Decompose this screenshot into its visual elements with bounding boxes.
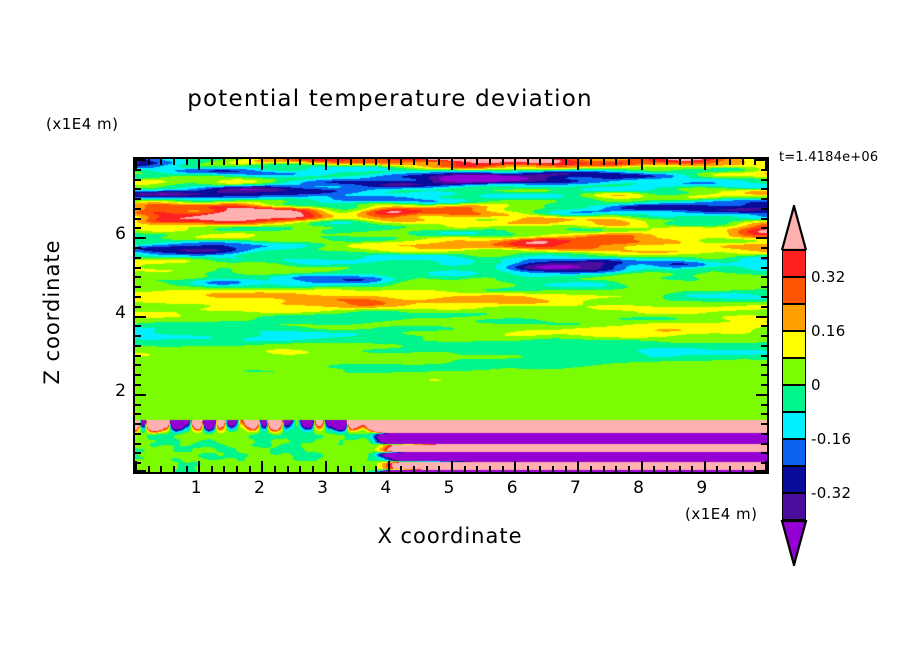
tick-mark bbox=[363, 159, 365, 165]
tick-mark bbox=[375, 466, 377, 472]
tick-mark bbox=[653, 159, 655, 165]
page-title: potential temperature deviation bbox=[0, 86, 780, 112]
tick-mark bbox=[198, 159, 200, 170]
colorbar-band bbox=[782, 493, 806, 520]
tick-mark bbox=[761, 247, 767, 249]
tick-mark bbox=[135, 227, 141, 229]
tick-mark bbox=[756, 394, 767, 396]
tick-mark bbox=[539, 159, 541, 165]
tick-mark bbox=[186, 466, 188, 472]
tick-mark bbox=[160, 159, 162, 165]
tick-mark bbox=[514, 461, 516, 472]
tick-mark bbox=[135, 452, 141, 454]
tick-mark bbox=[514, 159, 516, 170]
tick-mark bbox=[761, 433, 767, 435]
tick-mark bbox=[135, 296, 141, 298]
colorbar-band bbox=[782, 412, 806, 439]
tick-mark bbox=[565, 159, 567, 165]
tick-mark bbox=[413, 466, 415, 472]
timestamp-annotation: t=1.4184e+06 bbox=[779, 150, 878, 165]
tick-mark bbox=[223, 159, 225, 165]
tick-mark bbox=[325, 159, 327, 170]
tick-mark bbox=[691, 159, 693, 165]
tick-mark bbox=[527, 159, 529, 165]
tick-mark bbox=[761, 374, 767, 376]
tick-mark bbox=[198, 461, 200, 472]
tick-mark bbox=[464, 466, 466, 472]
tick-mark bbox=[135, 159, 146, 161]
x-axis-title: X coordinate bbox=[250, 524, 650, 548]
tick-mark bbox=[135, 316, 146, 318]
tick-mark bbox=[135, 364, 141, 366]
tick-mark bbox=[299, 466, 301, 472]
tick-mark bbox=[400, 466, 402, 472]
tick-mark bbox=[350, 466, 352, 472]
x-tick-label: 8 bbox=[619, 478, 659, 498]
tick-mark bbox=[552, 466, 554, 472]
tick-mark bbox=[729, 466, 731, 472]
tick-mark bbox=[653, 466, 655, 472]
tick-mark bbox=[716, 159, 718, 165]
tick-mark bbox=[539, 466, 541, 472]
tick-mark bbox=[691, 466, 693, 472]
tick-mark bbox=[135, 423, 141, 425]
tick-mark bbox=[249, 466, 251, 472]
tick-mark bbox=[388, 461, 390, 472]
tick-mark bbox=[135, 257, 141, 259]
tick-mark bbox=[160, 466, 162, 472]
tick-mark bbox=[756, 159, 767, 161]
x-tick-label: 7 bbox=[555, 478, 595, 498]
tick-mark bbox=[135, 443, 141, 445]
tick-mark bbox=[716, 466, 718, 472]
tick-mark bbox=[527, 466, 529, 472]
tick-mark bbox=[761, 404, 767, 406]
tick-mark bbox=[186, 159, 188, 165]
tick-mark bbox=[489, 159, 491, 165]
y-axis-title: Z coordinate bbox=[40, 202, 64, 422]
tick-mark bbox=[761, 227, 767, 229]
tick-mark bbox=[761, 257, 767, 259]
tick-mark bbox=[761, 169, 767, 171]
tick-mark bbox=[756, 237, 767, 239]
tick-mark bbox=[729, 159, 731, 165]
tick-mark bbox=[400, 159, 402, 165]
x-tick-label: 9 bbox=[682, 478, 722, 498]
tick-mark bbox=[761, 462, 767, 464]
tick-mark bbox=[761, 198, 767, 200]
x-tick-label: 6 bbox=[492, 478, 532, 498]
tick-mark bbox=[135, 325, 141, 327]
tick-mark bbox=[704, 461, 706, 472]
tick-mark bbox=[135, 169, 141, 171]
tick-mark bbox=[761, 345, 767, 347]
tick-mark bbox=[742, 159, 744, 165]
tick-mark bbox=[679, 466, 681, 472]
tick-mark bbox=[761, 325, 767, 327]
tick-mark bbox=[489, 466, 491, 472]
colorbar-band bbox=[782, 304, 806, 331]
tick-mark bbox=[756, 470, 767, 472]
tick-mark bbox=[761, 413, 767, 415]
tick-mark bbox=[603, 159, 605, 165]
tick-mark bbox=[135, 433, 141, 435]
tick-mark bbox=[135, 462, 141, 464]
colorbar-tick-label: -0.32 bbox=[811, 484, 851, 502]
tick-mark bbox=[312, 159, 314, 165]
colorbar-band bbox=[782, 385, 806, 412]
y-tick-label: 6 bbox=[96, 224, 126, 244]
tick-mark bbox=[628, 159, 630, 165]
x-tick-label: 4 bbox=[366, 478, 406, 498]
tick-mark bbox=[135, 470, 146, 472]
tick-mark bbox=[666, 159, 668, 165]
x-tick-label: 1 bbox=[176, 478, 216, 498]
tick-mark bbox=[135, 384, 141, 386]
colorbar-cap-max bbox=[779, 205, 809, 250]
figure-canvas: potential temperature deviation (x1E4 m)… bbox=[0, 0, 904, 654]
tick-mark bbox=[135, 218, 141, 220]
tick-mark bbox=[325, 461, 327, 472]
tick-mark bbox=[135, 237, 146, 239]
tick-mark bbox=[438, 466, 440, 472]
tick-mark bbox=[274, 159, 276, 165]
tick-mark bbox=[223, 466, 225, 472]
colorbar-cap-min bbox=[779, 520, 809, 566]
tick-mark bbox=[375, 159, 377, 165]
tick-mark bbox=[761, 276, 767, 278]
tick-mark bbox=[287, 466, 289, 472]
y-tick-label: 4 bbox=[96, 303, 126, 323]
tick-mark bbox=[337, 466, 339, 472]
tick-mark bbox=[148, 159, 150, 165]
tick-mark bbox=[287, 159, 289, 165]
tick-mark bbox=[236, 159, 238, 165]
tick-mark bbox=[135, 404, 141, 406]
tick-mark bbox=[761, 208, 767, 210]
tick-mark bbox=[761, 355, 767, 357]
tick-mark bbox=[261, 159, 263, 170]
tick-mark bbox=[135, 188, 141, 190]
tick-mark bbox=[135, 179, 141, 181]
tick-mark bbox=[756, 316, 767, 318]
tick-mark bbox=[476, 466, 478, 472]
tick-mark bbox=[135, 345, 141, 347]
tick-mark bbox=[135, 394, 146, 396]
tick-mark bbox=[628, 466, 630, 472]
tick-mark bbox=[761, 179, 767, 181]
tick-mark bbox=[502, 466, 504, 472]
tick-mark bbox=[590, 466, 592, 472]
tick-mark bbox=[761, 267, 767, 269]
colorbar-band bbox=[782, 331, 806, 358]
tick-mark bbox=[761, 443, 767, 445]
tick-mark bbox=[451, 159, 453, 170]
tick-mark bbox=[363, 466, 365, 472]
colorbar-band bbox=[782, 277, 806, 304]
tick-mark bbox=[577, 461, 579, 472]
tick-mark bbox=[615, 466, 617, 472]
tick-mark bbox=[148, 466, 150, 472]
tick-mark bbox=[413, 159, 415, 165]
colorbar-tick-label: 0.16 bbox=[811, 322, 846, 340]
colorbar-band bbox=[782, 466, 806, 493]
tick-mark bbox=[476, 159, 478, 165]
contour-plot-area bbox=[133, 157, 769, 474]
tick-mark bbox=[426, 159, 428, 165]
tick-mark bbox=[236, 466, 238, 472]
colorbar-band bbox=[782, 439, 806, 466]
tick-mark bbox=[742, 466, 744, 472]
colorbar-tick-label: 0 bbox=[811, 376, 821, 394]
tick-mark bbox=[135, 286, 141, 288]
tick-mark bbox=[135, 306, 141, 308]
tick-mark bbox=[261, 461, 263, 472]
tick-mark bbox=[590, 159, 592, 165]
y-axis-unit-label: (x1E4 m) bbox=[46, 115, 119, 133]
colorbar-tick-label: 0.32 bbox=[811, 268, 846, 286]
tick-mark bbox=[577, 159, 579, 170]
x-tick-label: 3 bbox=[303, 478, 343, 498]
tick-mark bbox=[135, 267, 141, 269]
contour-field bbox=[135, 159, 767, 472]
tick-mark bbox=[502, 159, 504, 165]
tick-mark bbox=[451, 461, 453, 472]
tick-mark bbox=[641, 461, 643, 472]
tick-mark bbox=[761, 296, 767, 298]
tick-mark bbox=[135, 355, 141, 357]
tick-mark bbox=[615, 159, 617, 165]
x-axis-unit-label: (x1E4 m) bbox=[685, 505, 758, 523]
tick-mark bbox=[135, 276, 141, 278]
tick-mark bbox=[679, 159, 681, 165]
tick-mark bbox=[388, 159, 390, 170]
tick-mark bbox=[761, 423, 767, 425]
x-tick-label: 2 bbox=[239, 478, 279, 498]
tick-mark bbox=[135, 247, 141, 249]
tick-mark bbox=[135, 413, 141, 415]
tick-mark bbox=[761, 188, 767, 190]
tick-mark bbox=[135, 374, 141, 376]
tick-mark bbox=[211, 466, 213, 472]
tick-mark bbox=[135, 335, 141, 337]
tick-mark bbox=[761, 306, 767, 308]
tick-mark bbox=[761, 335, 767, 337]
y-tick-label: 2 bbox=[96, 381, 126, 401]
tick-mark bbox=[299, 159, 301, 165]
tick-mark bbox=[464, 159, 466, 165]
tick-mark bbox=[761, 384, 767, 386]
colorbar-tick-label: -0.16 bbox=[811, 430, 851, 448]
x-tick-label: 5 bbox=[429, 478, 469, 498]
colorbar-band bbox=[782, 358, 806, 385]
tick-mark bbox=[761, 452, 767, 454]
colorbar: 0.320.160-0.16-0.32 bbox=[779, 205, 809, 515]
tick-mark bbox=[603, 466, 605, 472]
colorbar-band bbox=[782, 250, 806, 277]
tick-mark bbox=[173, 159, 175, 165]
tick-mark bbox=[761, 364, 767, 366]
tick-mark bbox=[350, 159, 352, 165]
tick-mark bbox=[337, 159, 339, 165]
tick-mark bbox=[249, 159, 251, 165]
tick-mark bbox=[274, 466, 276, 472]
tick-mark bbox=[211, 159, 213, 165]
tick-mark bbox=[312, 466, 314, 472]
tick-mark bbox=[552, 159, 554, 165]
tick-mark bbox=[173, 466, 175, 472]
tick-mark bbox=[761, 218, 767, 220]
tick-mark bbox=[666, 466, 668, 472]
tick-mark bbox=[135, 198, 141, 200]
tick-mark bbox=[135, 208, 141, 210]
tick-mark bbox=[438, 159, 440, 165]
tick-mark bbox=[704, 159, 706, 170]
tick-mark bbox=[761, 286, 767, 288]
tick-mark bbox=[641, 159, 643, 170]
tick-mark bbox=[426, 466, 428, 472]
tick-mark bbox=[565, 466, 567, 472]
